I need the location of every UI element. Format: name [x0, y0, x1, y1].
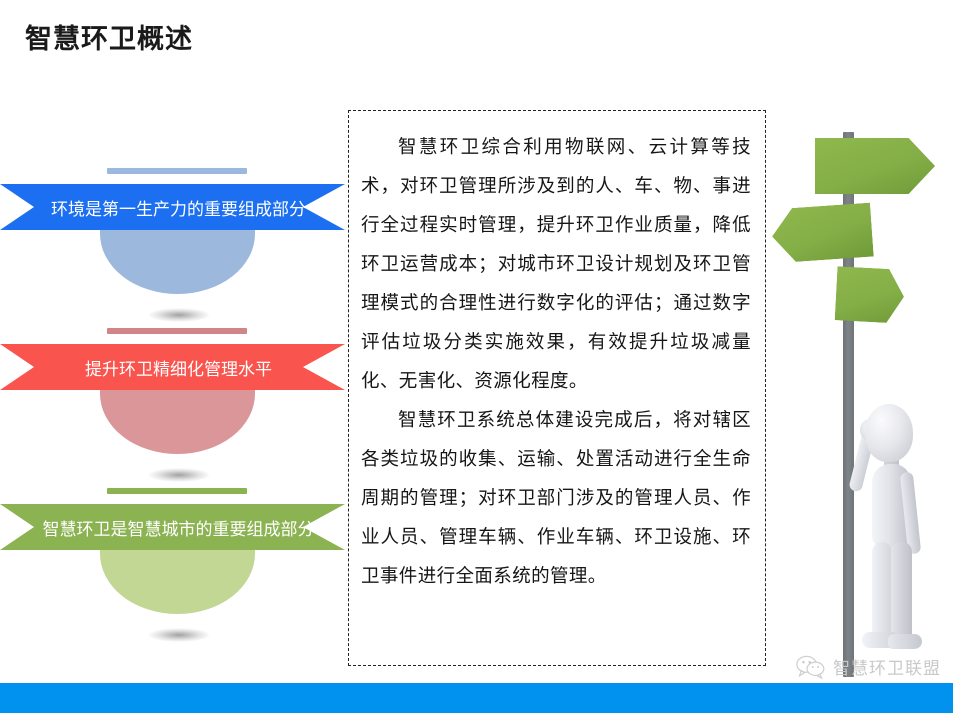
signpost-arrow-right-bottom	[835, 266, 906, 323]
banner-bowl-shadow	[148, 468, 210, 482]
description-panel: 智慧环卫综合利用物联网、云计算等技术，对环卫管理所涉及到的人、车、物、事进行全过…	[348, 110, 766, 666]
description-paragraph-1: 智慧环卫综合利用物联网、云计算等技术，对环卫管理所涉及到的人、车、物、事进行全过…	[361, 127, 751, 400]
signpost-arrow-left-middle	[770, 203, 874, 264]
figure-right-leg	[891, 542, 912, 640]
banner-cap-bar	[107, 488, 247, 494]
figure-head	[865, 404, 913, 462]
watermark: 智慧环卫联盟	[796, 654, 941, 679]
page-title: 智慧环卫概述	[25, 17, 193, 56]
banner-bowl-shape	[100, 384, 255, 454]
banner-bowl-shadow	[148, 308, 210, 322]
thinking-person-illustration	[836, 404, 941, 659]
banner-ribbon[interactable]: 智慧环卫是智慧城市的重要组成部分	[0, 504, 345, 550]
banner-bowl-shadow	[148, 628, 210, 642]
watermark-label: 智慧环卫联盟	[833, 654, 941, 679]
banner-bowl-shape	[100, 224, 255, 294]
banner-cap-bar	[107, 168, 247, 174]
footer-bar	[0, 683, 953, 713]
banner-bowl-shape	[100, 544, 255, 614]
figure-left-leg	[872, 542, 892, 640]
wechat-icon	[796, 655, 826, 679]
banner-label: 提升环卫精细化管理水平	[67, 355, 278, 380]
signpost-illustration	[770, 108, 953, 408]
signpost-arrow-right-top	[815, 138, 935, 194]
banner-ribbon[interactable]: 环境是第一生产力的重要组成部分	[0, 184, 345, 230]
banner-label: 环境是第一生产力的重要组成部分	[33, 195, 312, 220]
banner-cap-bar	[107, 328, 247, 334]
banner-ribbon[interactable]: 提升环卫精细化管理水平	[0, 344, 345, 390]
description-paragraph-2: 智慧环卫系统总体建设完成后，将对辖区各类垃圾的收集、运输、处置活动进行全生命周期…	[361, 400, 751, 595]
figure-right-foot	[888, 634, 922, 649]
banner-label: 智慧环卫是智慧城市的重要组成部分	[25, 515, 321, 540]
